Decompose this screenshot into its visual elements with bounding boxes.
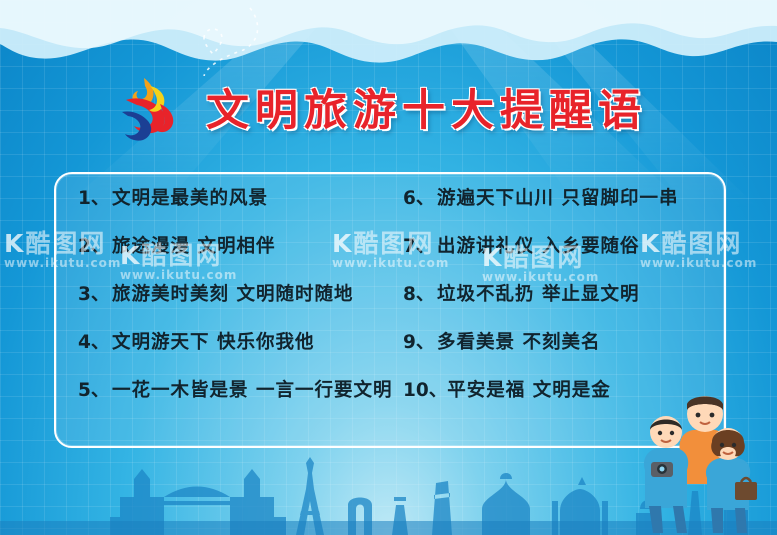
list-item-text: 出游讲礼仪 入乡要随俗 [437,238,639,257]
list-item-number: 10、 [403,382,447,401]
list-item-text: 多看美景 不刻美名 [437,334,600,353]
list-item: 8、 垃圾不乱扔 举止显文明 [403,286,724,334]
china-tourism-logo-icon [104,74,196,148]
list-item: 2、 旅途漫漫 文明相伴 [78,238,399,286]
list-item: 7、 出游讲礼仪 入乡要随俗 [403,238,724,286]
list-item-number: 9、 [403,334,437,353]
list-item-text: 一花一木皆是景 一言一行要文明 [112,382,392,401]
reminder-column-left: 1、 文明是最美的风景 2、 旅途漫漫 文明相伴 3、 旅游美时美刻 文明随时随… [56,174,399,446]
dotted-balloon-path [180,6,270,76]
poster-canvas: 文明旅游十大提醒语 1、 文明是最美的风景 2、 旅途漫漫 文明相伴 3、 旅游… [0,0,777,535]
list-item-number: 3、 [78,286,112,305]
list-item-text: 文明游天下 快乐你我他 [112,334,314,353]
list-item-text: 平安是福 文明是金 [447,382,610,401]
list-item-text: 旅途漫漫 文明相伴 [112,238,275,257]
list-item: 5、 一花一木皆是景 一言一行要文明 [78,382,399,430]
list-item-number: 2、 [78,238,112,257]
tourist-family-illustration [615,358,765,533]
list-item-number: 8、 [403,286,437,305]
list-item-text: 文明是最美的风景 [112,190,268,209]
list-item-number: 7、 [403,238,437,257]
list-item-text: 游遍天下山川 只留脚印一串 [437,190,678,209]
title-row: 文明旅游十大提醒语 [104,74,704,148]
list-item-number: 5、 [78,382,112,401]
list-item: 3、 旅游美时美刻 文明随时随地 [78,286,399,334]
list-item: 6、 游遍天下山川 只留脚印一串 [403,190,724,238]
list-item-text: 旅游美时美刻 文明随时随地 [112,286,353,305]
list-item: 1、 文明是最美的风景 [78,190,399,238]
page-title: 文明旅游十大提醒语 [206,90,647,133]
list-item: 4、 文明游天下 快乐你我他 [78,334,399,382]
list-item-number: 6、 [403,190,437,209]
list-item-number: 4、 [78,334,112,353]
list-item-number: 1、 [78,190,112,209]
list-item-text: 垃圾不乱扔 举止显文明 [437,286,639,305]
